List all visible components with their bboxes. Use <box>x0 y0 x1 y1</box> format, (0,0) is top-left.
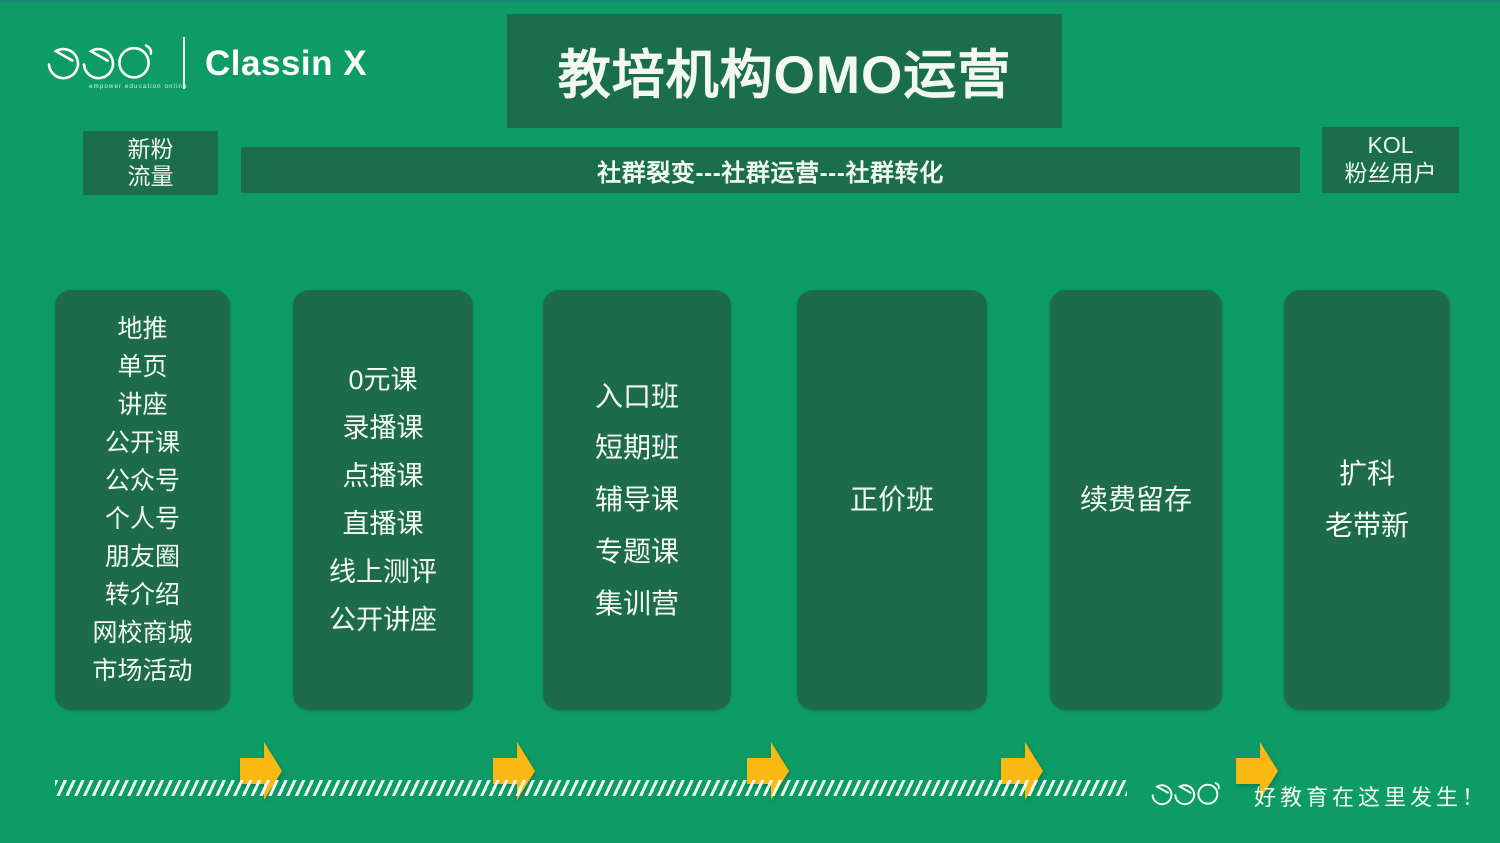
brand-divider <box>183 37 185 89</box>
card-item: 地推 <box>117 310 167 348</box>
card-item: 市场活动 <box>92 652 192 690</box>
kol-line-2: 粉丝用户 <box>1345 160 1437 188</box>
card-item: 朋友圈 <box>105 538 180 576</box>
card-item: 公开讲座 <box>329 596 437 644</box>
card-item: 0元课 <box>348 356 417 404</box>
brand-lockup: empower education online Classin X <box>45 34 367 92</box>
brand-product-name: Classin X <box>205 46 367 81</box>
flow-card-acquisition: 地推 单页 讲座 公开课 公众号 个人号 朋友圈 转介绍 网校商城 市场活动 <box>55 290 230 710</box>
card-item: 辅导课 <box>595 474 679 526</box>
card-item: 续费留存 <box>1080 474 1192 526</box>
card-item: 专题课 <box>595 526 679 578</box>
card-item: 公众号 <box>105 462 180 500</box>
card-item: 点播课 <box>343 452 424 500</box>
flow-card-expansion: 扩科 老带新 <box>1284 290 1450 710</box>
new-fans-line-1: 新粉 <box>128 136 174 163</box>
page-title-box: 教培机构OMO运营 <box>507 14 1062 128</box>
flow-card-free-courses: 0元课 录播课 点播课 直播课 线上测评 公开讲座 <box>293 290 473 710</box>
card-item: 线上测评 <box>329 548 437 596</box>
card-item: 转介绍 <box>105 576 180 614</box>
new-fans-line-2: 流量 <box>128 163 174 190</box>
card-item: 公开课 <box>105 424 180 462</box>
card-item: 网校商城 <box>92 614 192 652</box>
card-item: 直播课 <box>343 500 424 548</box>
card-item: 入口班 <box>595 371 679 423</box>
card-item: 单页 <box>117 348 167 386</box>
kol-line-1: KOL <box>1367 132 1413 160</box>
flow-card-entry-classes: 入口班 短期班 辅导课 专题课 集训营 <box>543 290 731 710</box>
community-banner-text: 社群裂变---社群运营---社群转化 <box>597 153 944 188</box>
footer-brand: 好教育在这里发生！ <box>1150 778 1488 813</box>
funnel-flow: 地推 单页 讲座 公开课 公众号 个人号 朋友圈 转介绍 网校商城 市场活动 0… <box>0 290 1500 710</box>
kol-box: KOL 粉丝用户 <box>1322 127 1459 193</box>
card-item: 正价班 <box>850 474 934 526</box>
community-banner: 社群裂变---社群运营---社群转化 <box>241 147 1300 193</box>
card-item: 集训营 <box>595 578 679 630</box>
page-title: 教培机构OMO运营 <box>558 33 1012 109</box>
eeo-logo-icon <box>1150 778 1228 813</box>
flow-card-renewal: 续费留存 <box>1050 290 1222 710</box>
flow-card-full-price: 正价班 <box>797 290 987 710</box>
card-item: 短期班 <box>595 422 679 474</box>
footer-stripe-decoration <box>55 780 1127 796</box>
eeo-logo-icon <box>45 38 165 89</box>
footer-slogan: 好教育在这里发生！ <box>1254 780 1488 812</box>
brand-tagline: empower education online <box>89 83 188 90</box>
card-item: 个人号 <box>105 500 180 538</box>
card-item: 讲座 <box>117 386 167 424</box>
card-item: 扩科 <box>1339 448 1395 500</box>
card-item: 老带新 <box>1325 500 1409 552</box>
slide-canvas: empower education online Classin X 教培机构O… <box>0 0 1500 843</box>
card-item: 录播课 <box>343 404 424 452</box>
new-fans-traffic-box: 新粉 流量 <box>83 131 218 195</box>
